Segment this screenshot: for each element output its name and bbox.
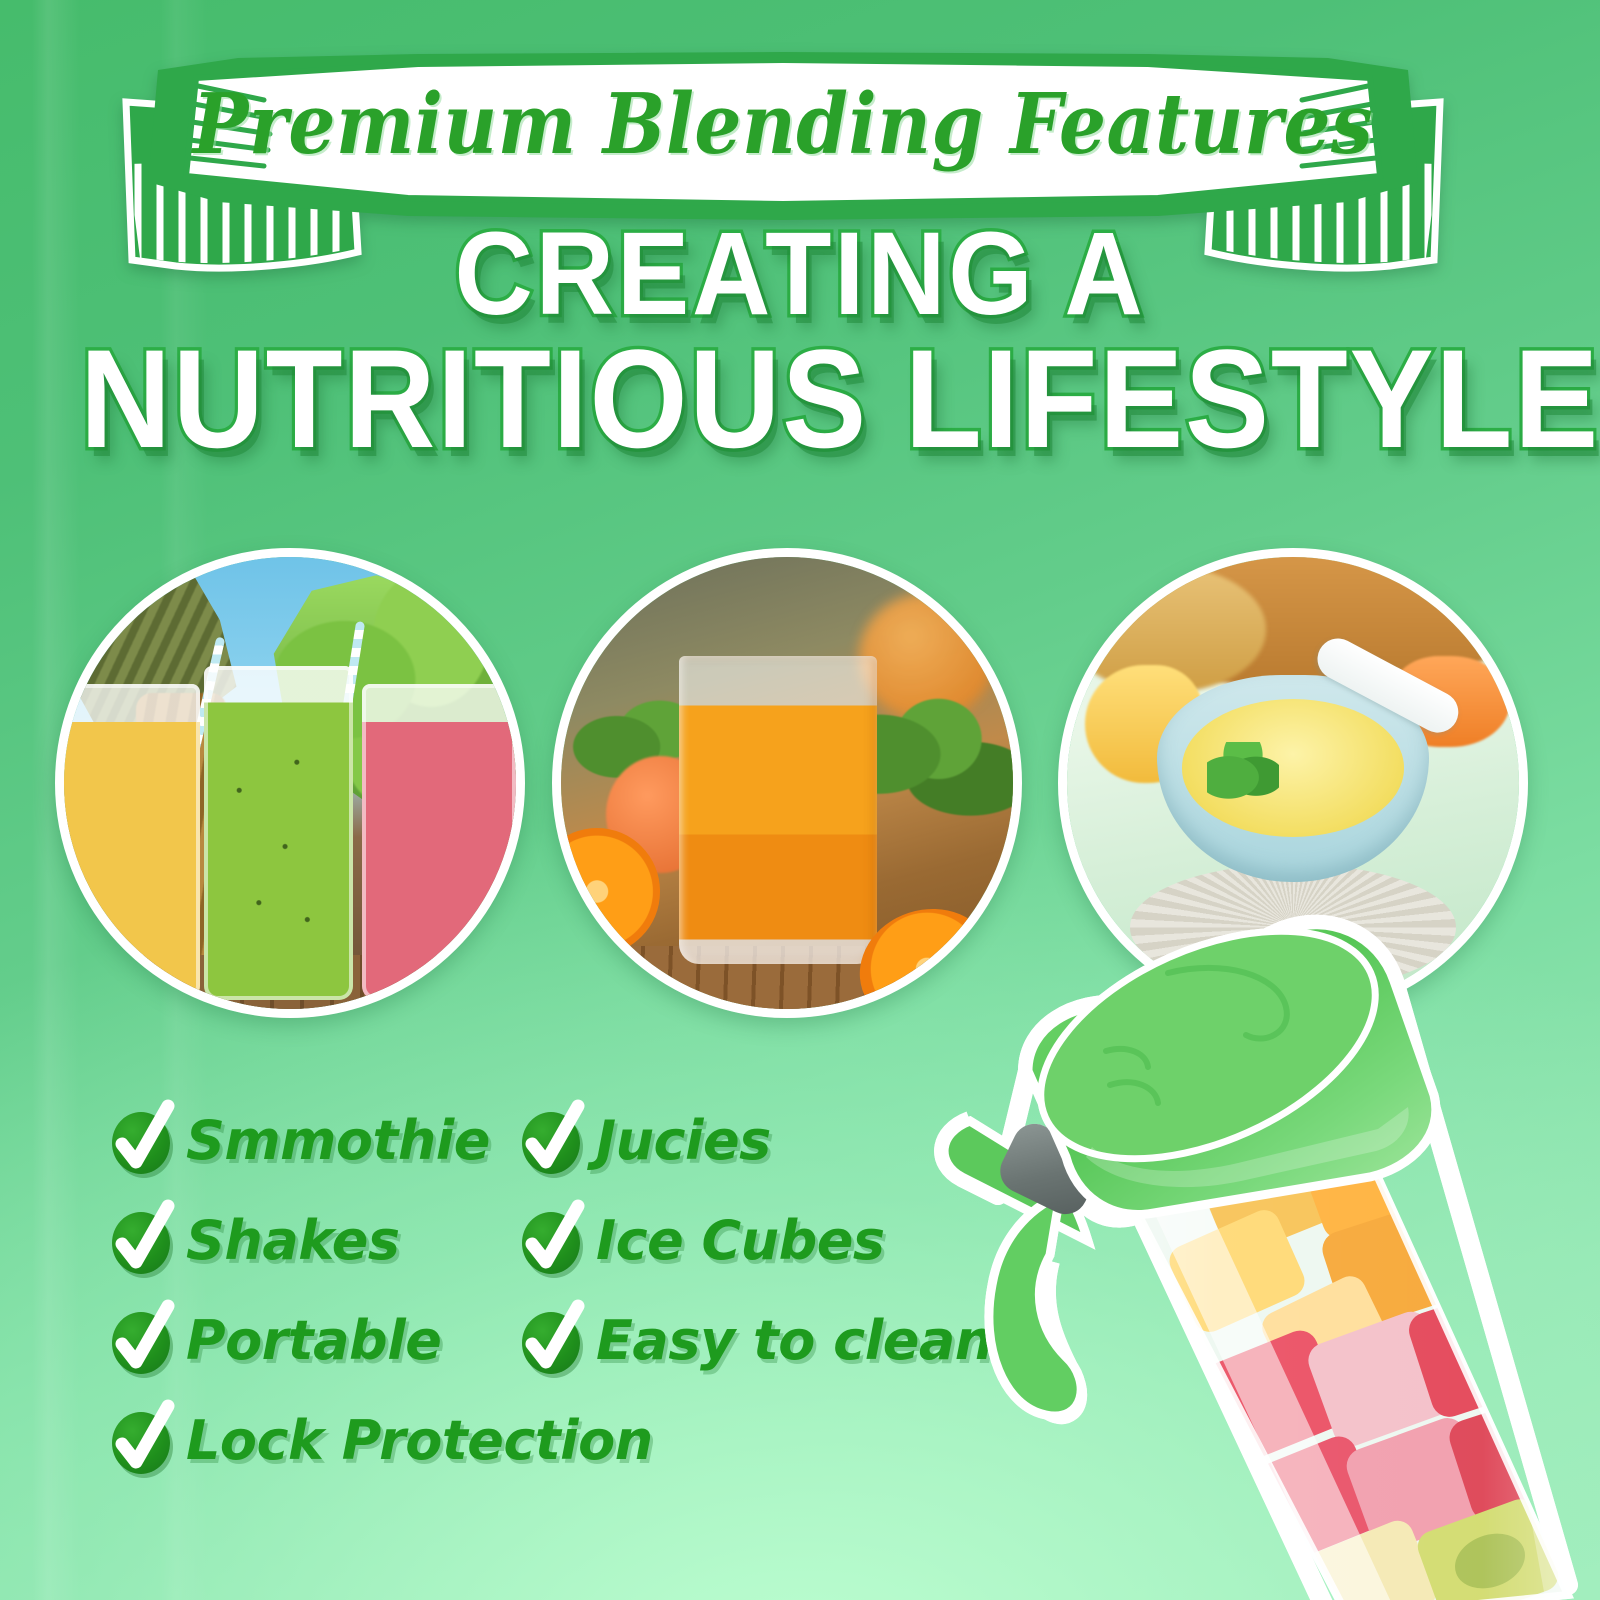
feature-item-shakes: Shakes [110,1204,520,1276]
smoothie-jars-photo [55,548,525,1018]
feature-label: Ice Cubes [596,1209,885,1272]
feature-item-smoothie: Smmothie [110,1104,520,1176]
feature-label: Lock Protection [186,1409,653,1472]
product-feature-poster: Premium Blending Features CREATING A NUT… [0,0,1600,1600]
check-icon [110,1204,172,1276]
check-icon [520,1304,582,1376]
smoothie-icon [64,557,516,1009]
feature-label: Shakes [186,1209,400,1272]
check-icon [110,1304,172,1376]
feature-label: Smmothie [186,1109,490,1172]
check-icon [520,1204,582,1276]
check-icon [110,1404,172,1476]
feature-item-lock-protection: Lock Protection [110,1404,630,1476]
check-icon [520,1104,582,1176]
feature-label: Jucies [596,1109,771,1172]
headline-line-2: NUTRITIOUS LIFESTYLE [80,318,1520,480]
portable-blender [878,895,1600,1600]
feature-item-portable: Portable [110,1304,520,1376]
feature-label: Portable [186,1309,441,1372]
check-icon [110,1104,172,1176]
